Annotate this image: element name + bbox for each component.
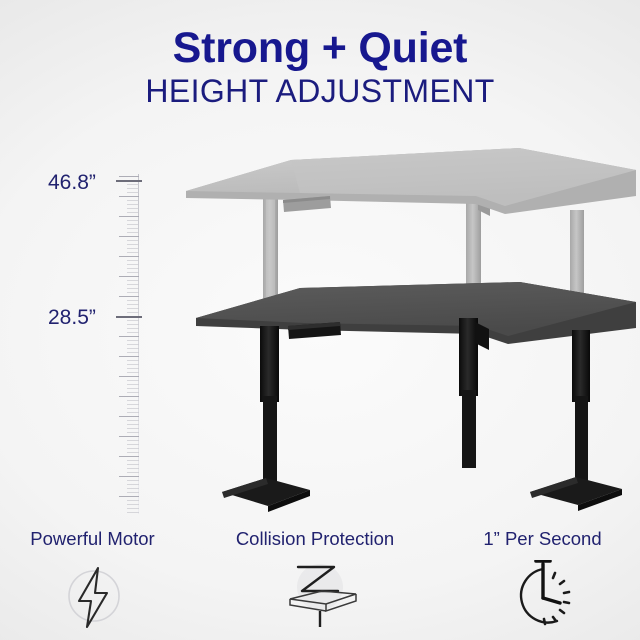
- feature-speed: 1” Per Second: [445, 530, 640, 631]
- feature-row: Powerful Motor Collision Protection: [0, 530, 640, 640]
- feature-label: Powerful Motor: [0, 530, 185, 549]
- foot-front-left: [222, 478, 310, 512]
- desk-collision-icon: [185, 561, 445, 631]
- desk-lowered: [196, 282, 636, 512]
- feature-label: 1” Per Second: [445, 530, 640, 549]
- lightning-bolt-icon: [0, 561, 185, 631]
- raised-desktop: [186, 148, 636, 214]
- raised-leg-front-left: [263, 196, 278, 308]
- raised-leg-right: [570, 210, 584, 302]
- foot-right: [530, 477, 622, 511]
- lowered-leg-front-left: [222, 326, 310, 512]
- infographic-canvas: Strong + Quiet HEIGHT ADJUSTMENT 46.8” 2…: [0, 0, 640, 640]
- clock-icon: [445, 561, 640, 631]
- lowered-leg-right: [530, 330, 622, 511]
- feature-label: Collision Protection: [185, 530, 445, 549]
- lowered-leg-corner: [459, 318, 489, 468]
- feature-powerful-motor: Powerful Motor: [0, 530, 185, 631]
- desk-raised: [186, 148, 636, 308]
- feature-collision-protection: Collision Protection: [185, 530, 445, 631]
